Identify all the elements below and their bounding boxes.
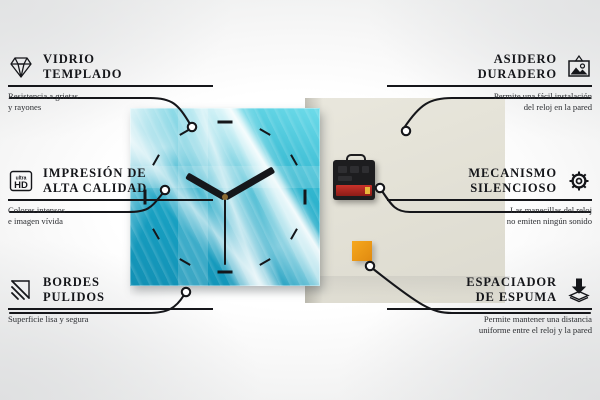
gear-icon: [566, 168, 592, 194]
press-down-pad-icon: [566, 277, 592, 303]
feature-asidero-duradero: ASIDERO DURADERO Permite una fácil insta…: [387, 52, 592, 113]
feature-title: DURADERO: [478, 67, 557, 82]
feature-rule: [387, 85, 592, 87]
clock-tick: [303, 190, 306, 205]
feature-desc: Resistencia a grietas: [8, 91, 213, 102]
foam-spacer-part: [352, 241, 372, 261]
feature-title: VIDRIO: [43, 52, 122, 67]
feature-bordes-pulidos: BORDES PULIDOS Superficie lisa y segura: [8, 275, 213, 325]
feature-title: PULIDOS: [43, 290, 105, 305]
feature-title: ASIDERO: [478, 52, 557, 67]
feature-rule: [8, 199, 213, 201]
clock-hub: [222, 194, 228, 200]
feature-impresion-alta-calidad: ultra HD IMPRESIÓN DE ALTA CALIDAD Color…: [8, 166, 213, 227]
feature-espaciador-de-espuma: ESPACIADOR DE ESPUMA Permite mantener un…: [387, 275, 592, 336]
feature-rule: [387, 308, 592, 310]
polished-edges-icon: [8, 277, 34, 303]
feature-desc: del reloj en la pared: [387, 102, 592, 113]
hanging-frame-icon: [566, 54, 592, 80]
feature-rule: [8, 308, 213, 310]
feature-title: SILENCIOSO: [468, 181, 557, 196]
clock-mechanism: [333, 160, 375, 200]
mechanism-detail: [338, 176, 352, 181]
feature-desc: Permite mantener una distancia: [387, 314, 592, 325]
mechanism-battery: [336, 185, 372, 196]
feature-title: ESPACIADOR: [466, 275, 557, 290]
mechanism-detail: [338, 166, 347, 173]
feature-desc: e imagen vívida: [8, 216, 213, 227]
feature-title: DE ESPUMA: [466, 290, 557, 305]
feature-mecanismo-silencioso: MECANISMO SILENCIOSO Las manecillas del …: [387, 166, 592, 227]
feature-desc: no emiten ningún sonido: [387, 216, 592, 227]
feature-title: IMPRESIÓN DE: [43, 166, 147, 181]
mechanism-body: [333, 160, 375, 200]
mechanism-detail: [362, 166, 369, 173]
infographic-canvas: VIDRIO TEMPLADO Resistencia a grietas y …: [0, 0, 600, 400]
feature-desc: Colores intensos: [8, 205, 213, 216]
clock-tick: [218, 121, 233, 124]
feature-desc: Las manecillas del reloj: [387, 205, 592, 216]
feature-rule: [8, 85, 213, 87]
mechanism-detail: [350, 166, 359, 173]
feature-desc: Permite una fácil instalación: [387, 91, 592, 102]
feature-desc: y rayones: [8, 102, 213, 113]
feature-desc: Superficie lisa y segura: [8, 314, 213, 325]
feature-vidrio-templado: VIDRIO TEMPLADO Resistencia a grietas y …: [8, 52, 213, 113]
feature-title: MECANISMO: [468, 166, 557, 181]
feature-title: TEMPLADO: [43, 67, 122, 82]
feature-desc: uniforme entre el reloj y la pared: [387, 325, 592, 336]
diamond-icon: [8, 54, 34, 80]
feature-title: ALTA CALIDAD: [43, 181, 147, 196]
feature-rule: [387, 199, 592, 201]
feature-title: BORDES: [43, 275, 105, 290]
svg-text:HD: HD: [14, 180, 28, 191]
clock-second-hand: [224, 197, 226, 265]
ultra-hd-icon: ultra HD: [8, 168, 34, 194]
clock-tick: [218, 270, 233, 273]
